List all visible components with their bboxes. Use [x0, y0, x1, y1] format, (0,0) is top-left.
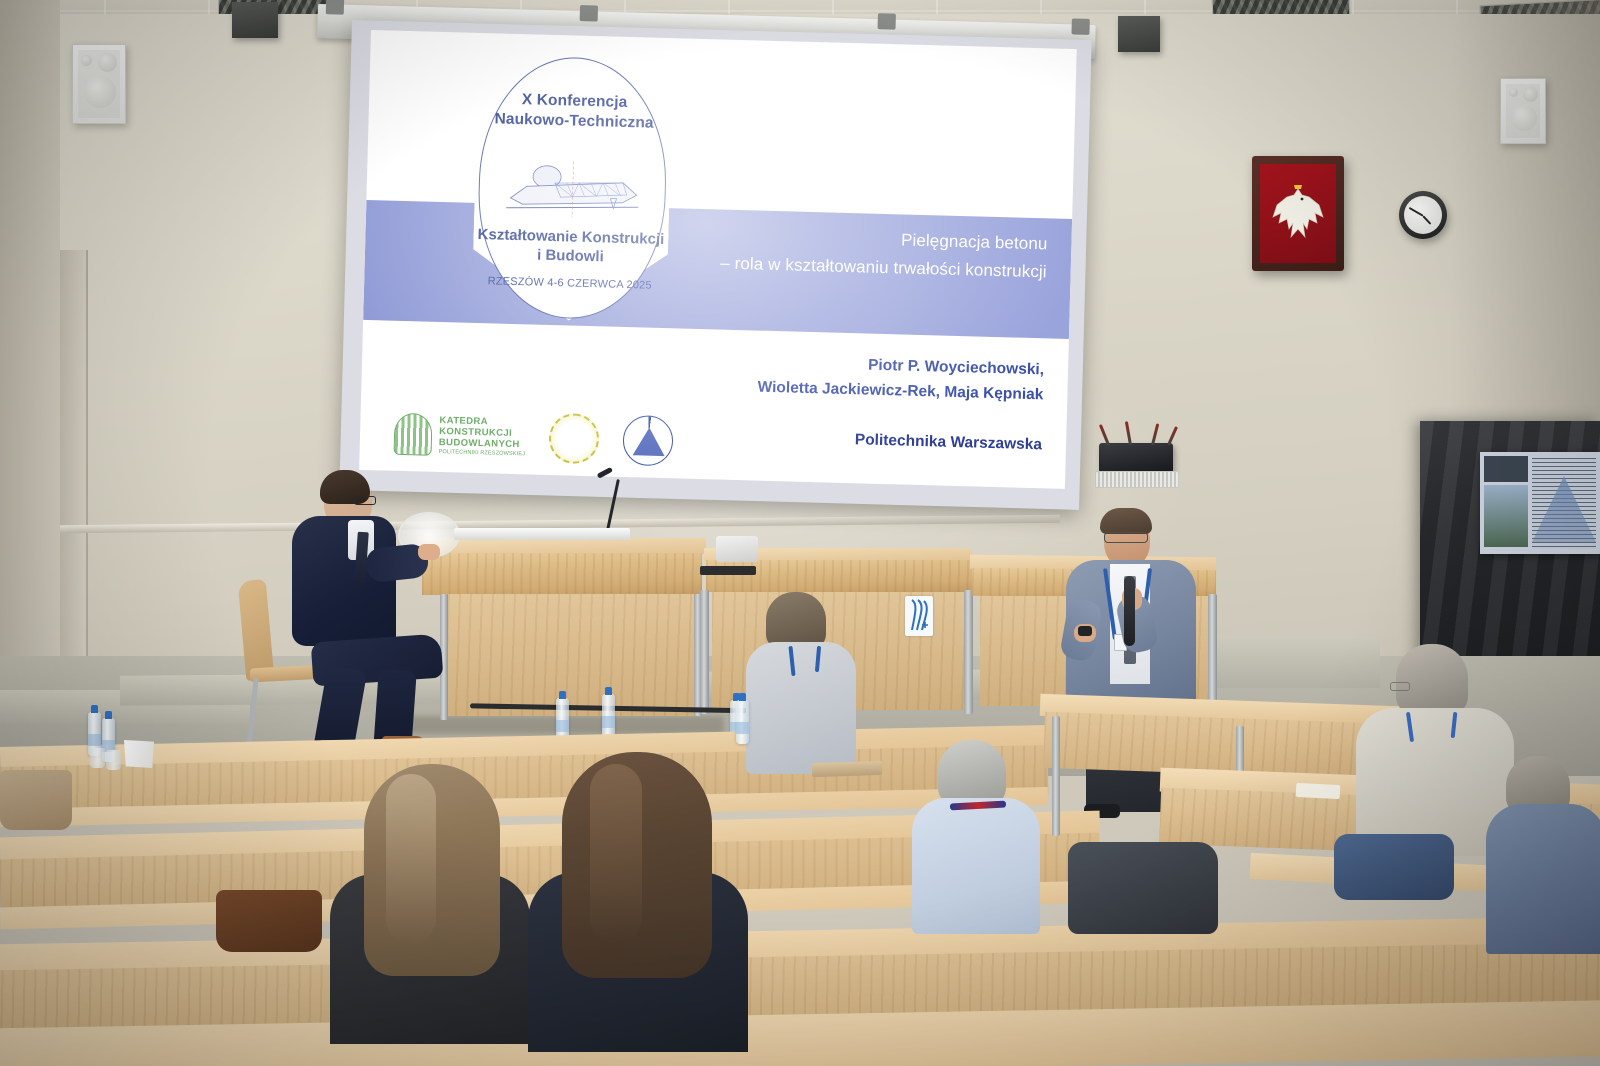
wall-speaker-left: [72, 44, 126, 124]
katedra-logo-text: KATEDRA KONSTRUKCJI BUDOWLANYCH POLITECH…: [439, 415, 526, 458]
hair-highlight: [590, 764, 642, 944]
midrange-icon: [1523, 87, 1538, 102]
audience-shirt: [746, 642, 856, 774]
screen-bracket: [1071, 18, 1089, 34]
conference-logo: X Konferencja Naukowo-Techniczna Kształt…: [471, 53, 673, 323]
clock-face: [1404, 196, 1442, 234]
bottle-label: [88, 734, 101, 746]
seated-moderator: [256, 470, 456, 760]
head-table-body: [706, 560, 972, 592]
audience-long-hair-center: [528, 752, 748, 1042]
hair-highlight: [386, 774, 436, 944]
audience-grey-hair-head: [938, 740, 1006, 806]
desk-right-leg: [1052, 716, 1060, 836]
lecture-hall-photo: X Konferencja Naukowo-Techniczna Kształt…: [0, 0, 1600, 1066]
projector-mount-right: [1118, 16, 1160, 52]
water-bottle: [602, 694, 615, 738]
polish-eagle-emblem: [1252, 156, 1344, 271]
speaker-grille: [1506, 84, 1540, 138]
woofer-icon: [1511, 105, 1537, 131]
left-wall: [0, 0, 60, 720]
audience-long-hair-left: [330, 764, 530, 1034]
presentation-authors: Piotr P. Woyciechowski, Wioletta Jackiew…: [593, 346, 1044, 408]
screen-bracket: [580, 5, 598, 21]
book-on-desk: [812, 761, 882, 777]
paper-on-desk: [1296, 783, 1341, 799]
wall-clock: [1399, 191, 1447, 239]
tweeter-icon: [1509, 88, 1518, 97]
folded-coat: [1068, 842, 1218, 934]
head-table-leg: [700, 590, 709, 714]
poster-photo: [1484, 485, 1528, 547]
audience-jeans: [1334, 834, 1454, 900]
presenter-glasses-icon: [1104, 532, 1148, 543]
water-bottle: [736, 700, 749, 744]
handheld-microphone: [1124, 576, 1135, 646]
bottle-label: [556, 720, 569, 732]
emblem-red-mat: [1260, 164, 1336, 263]
bottle-label: [602, 716, 615, 728]
pzitb-gear-logo: [623, 415, 674, 466]
woofer-icon: [84, 76, 116, 108]
izba-inzynierow-seal-logo: [549, 413, 600, 464]
wall-speaker-right: [1500, 78, 1546, 144]
projector-mount-left: [232, 2, 278, 38]
wifi-router: [1099, 443, 1173, 473]
slide-sponsor-logos: KATEDRA KONSTRUKCJI BUDOWLANYCH POLITECH…: [393, 403, 725, 474]
moderator-glasses-icon: [354, 496, 376, 505]
audience-grey-hair: [912, 740, 1042, 930]
presentation-clicker: [1078, 626, 1092, 636]
lectern-top: [418, 538, 706, 554]
clock-minute-hand: [1409, 207, 1424, 217]
clock-hour-hand: [1422, 215, 1431, 225]
audience-blue-shirt: [912, 798, 1040, 934]
audience-far-right-shirt: [1486, 804, 1600, 954]
drinking-glass: [106, 750, 121, 770]
screen-bracket: [878, 13, 896, 29]
presentation-slide: X Konferencja Naukowo-Techniczna Kształt…: [359, 30, 1077, 489]
audience-front-center: [742, 592, 862, 772]
side-door: [60, 250, 88, 690]
prz-logo-icon: [905, 596, 933, 636]
katedra-building-icon: [394, 413, 433, 456]
katedra-logo: KATEDRA KONSTRUKCJI BUDOWLANYCH POLITECH…: [394, 413, 527, 459]
lectern-body: [422, 553, 702, 595]
eagle-icon: [1267, 179, 1329, 251]
building-illustration-icon: [502, 158, 644, 224]
poster-header-block: [1484, 456, 1528, 482]
control-panel: [700, 566, 756, 575]
handbag: [216, 890, 322, 952]
screen-bracket: [326, 0, 344, 15]
lectern-monitor: [454, 528, 630, 540]
midrange-icon: [98, 53, 117, 72]
conference-poster: [1480, 452, 1600, 554]
audience-beige-head: [1396, 644, 1468, 716]
head-table-leg: [964, 590, 973, 714]
bottle-label: [736, 722, 749, 734]
moderator-hand: [418, 544, 440, 560]
drinking-glass: [90, 748, 105, 768]
tweeter-icon: [81, 55, 92, 66]
document-camera: [716, 536, 758, 562]
audience-beige-glasses-icon: [1390, 682, 1410, 691]
lectern-front-panel: [448, 594, 694, 716]
presenter-hair: [1100, 508, 1152, 534]
handbag: [0, 770, 72, 830]
conference-title: X Konferencja Naukowo-Techniczna: [476, 89, 672, 135]
name-tent-card: [124, 740, 154, 768]
audience-far-right: [1486, 756, 1600, 956]
presentation-title: Pielęgnacja betonu – rola w kształtowani…: [616, 219, 1047, 287]
projection-screen: X Konferencja Naukowo-Techniczna Kształt…: [359, 30, 1077, 489]
university-logo-sticker: [905, 596, 933, 636]
speaker-grille: [78, 50, 120, 118]
router-wall-bracket: [1095, 471, 1179, 488]
